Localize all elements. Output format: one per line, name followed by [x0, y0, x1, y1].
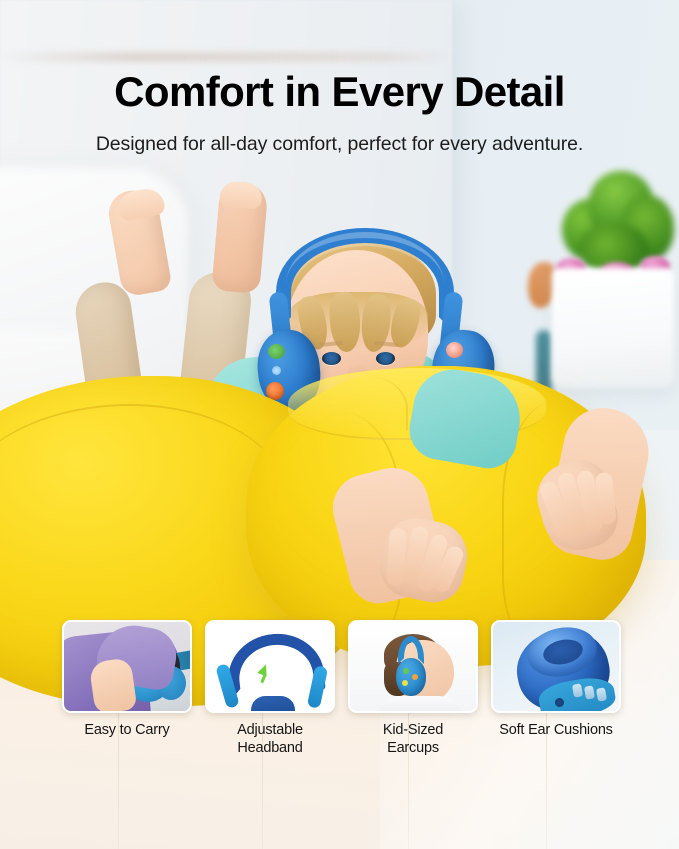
wall-trim	[0, 52, 452, 62]
white-plant-pot	[552, 268, 674, 388]
earcup-closeup-thumbnail[interactable]	[491, 620, 621, 713]
child-eye-left	[322, 352, 341, 365]
feature-caption-line1: Adjustable	[237, 722, 303, 738]
dot-sticker-icon	[272, 366, 281, 375]
rocket-sticker-icon	[446, 342, 463, 358]
feature-list: Easy to Carry Adjustable Headband	[62, 620, 618, 780]
feature-caption: Adjustable Headband	[237, 722, 303, 757]
feature-item-easy-to-carry[interactable]: Easy to Carry	[62, 620, 192, 780]
sticker-icon	[412, 674, 418, 680]
feature-item-kid-sized-earcups[interactable]: Kid-Sized Earcups	[348, 620, 478, 780]
backpack-with-headphones-thumbnail[interactable]	[62, 620, 192, 713]
child-eye-right	[376, 352, 395, 365]
bean-bag-seam	[0, 404, 288, 604]
headphone-earcup-icon	[251, 696, 295, 713]
page-subtitle: Designed for all-day comfort, perfect fo…	[0, 133, 679, 156]
feature-caption: Easy to Carry	[84, 722, 169, 740]
dinosaur-sticker-icon	[268, 344, 285, 359]
feature-caption: Soft Ear Cushions	[499, 722, 612, 740]
kid-profile-wearing-headphones-thumbnail[interactable]	[348, 620, 478, 713]
sticker-icon	[403, 668, 409, 674]
feature-caption: Kid-Sized Earcups	[383, 722, 443, 757]
page-title: Comfort in Every Detail	[0, 70, 679, 114]
headphone-earcup-icon	[396, 658, 426, 696]
feature-caption-line2: Headband	[237, 740, 302, 756]
product-feature-poster: Comfort in Every Detail Designed for all…	[0, 0, 679, 849]
feature-caption-line2: Earcups	[387, 740, 439, 756]
feature-item-adjustable-headband[interactable]: Adjustable Headband	[205, 620, 335, 780]
kid-shirt	[378, 696, 464, 713]
feature-item-soft-ear-cushions[interactable]: Soft Ear Cushions	[491, 620, 621, 780]
sticker-icon	[402, 680, 408, 686]
adjustable-headband-thumbnail[interactable]	[205, 620, 335, 713]
feature-caption-line1: Kid-Sized	[383, 722, 443, 738]
